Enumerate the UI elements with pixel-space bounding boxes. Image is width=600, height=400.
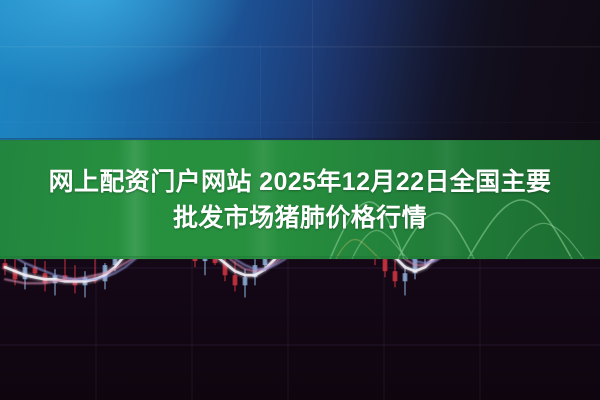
title-line-2: 批发市场猪肺价格行情: [173, 203, 427, 233]
banner-title: 网上配资门户网站 2025年12月22日全国主要 批发市场猪肺价格行情: [0, 140, 600, 259]
blue-gradient-header: [0, 0, 600, 141]
title-line-1: 网上配资门户网站 2025年12月22日全国主要: [49, 167, 552, 197]
promo-banner-image: 网上配资门户网站 2025年12月22日全国主要 批发市场猪肺价格行情: [0, 0, 600, 400]
